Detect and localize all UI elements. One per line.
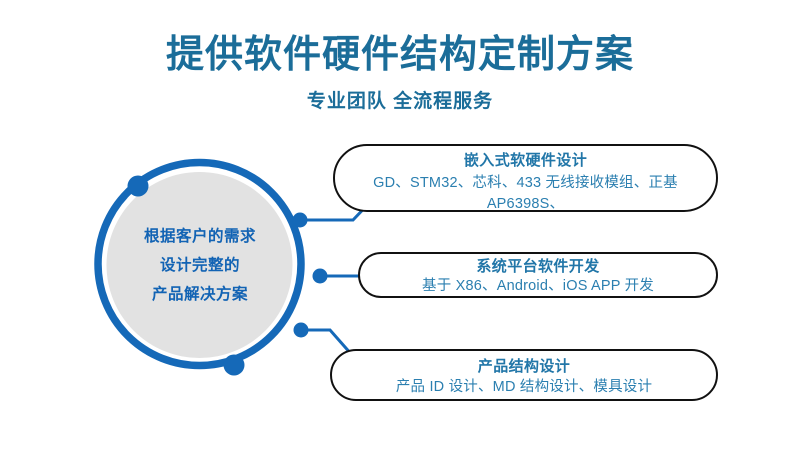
hub-text-line-1: 根据客户的需求 (107, 222, 293, 251)
service-card-body-line-1: 基于 X86、Android、iOS APP 开发 (360, 276, 716, 296)
connector-dot-2 (313, 269, 328, 284)
hub-text-line-2: 设计完整的 (107, 251, 293, 280)
header: 提供软件硬件结构定制方案 专业团队 全流程服务 (0, 0, 800, 114)
service-card-title: 系统平台软件开发 (360, 257, 716, 276)
service-card-title: 嵌入式软硬件设计 (335, 151, 716, 171)
service-card-embedded[interactable]: 嵌入式软硬件设计 GD、STM32、芯科、433 无线接收模组、正基 AP639… (333, 144, 718, 212)
service-card-platform[interactable]: 系统平台软件开发 基于 X86、Android、iOS APP 开发 (358, 252, 718, 298)
hub-text: 根据客户的需求 设计完整的 产品解决方案 (107, 222, 293, 309)
hub-text-line-3: 产品解决方案 (107, 280, 293, 309)
connector-dot-1 (293, 213, 308, 228)
hub-node-dot-bottom (224, 355, 245, 376)
service-card-title: 产品结构设计 (332, 357, 716, 376)
connector-dot-3 (294, 323, 309, 338)
hub-node-dot-top (128, 176, 149, 197)
page-subtitle: 专业团队 全流程服务 (0, 78, 800, 114)
service-card-body-line-1: 产品 ID 设计、MD 结构设计、模具设计 (332, 377, 716, 397)
service-card-structure[interactable]: 产品结构设计 产品 ID 设计、MD 结构设计、模具设计 (330, 349, 718, 401)
page-title: 提供软件硬件结构定制方案 (0, 0, 800, 78)
slide-canvas: 提供软件硬件结构定制方案 专业团队 全流程服务 根据客户的需求 设计完整的 产品… (0, 0, 800, 450)
service-card-body-line-1: GD、STM32、芯科、433 无线接收模组、正基 AP6398S、 (335, 173, 716, 212)
